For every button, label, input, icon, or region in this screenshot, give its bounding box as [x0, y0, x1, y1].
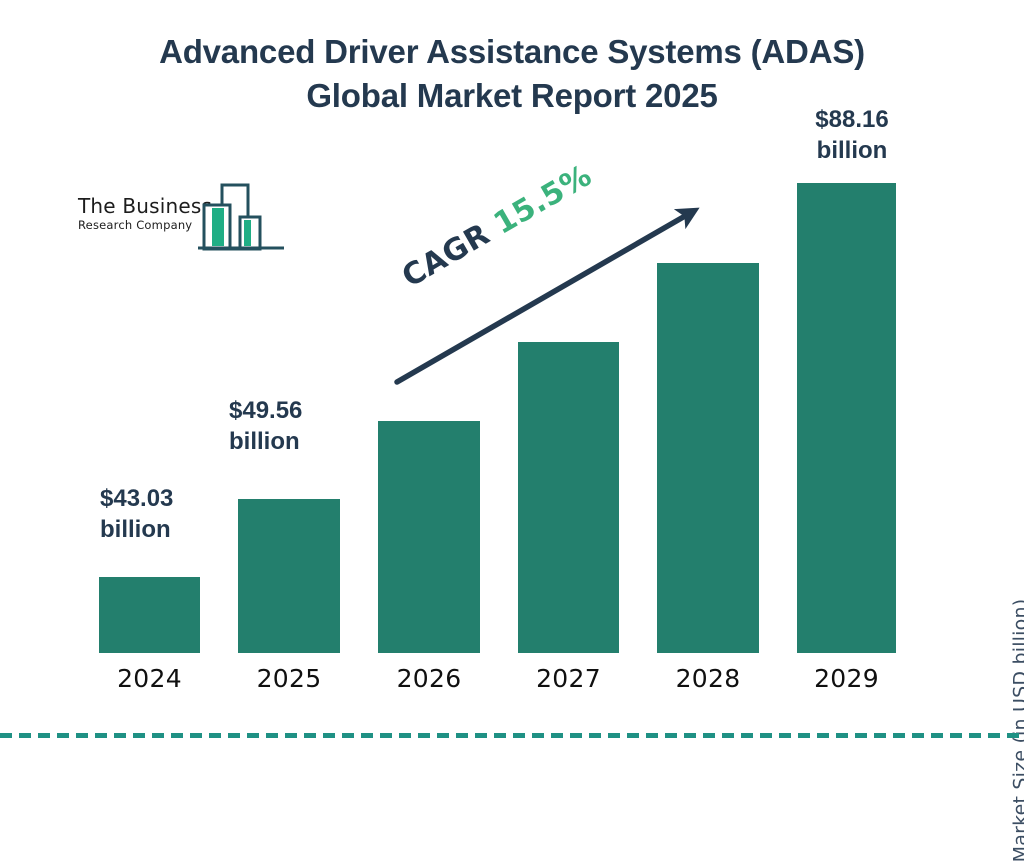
value-label-2025: $49.56 billion [229, 396, 302, 457]
x-tick-2029: 2029 [797, 664, 896, 693]
x-tick-2028: 2028 [657, 664, 759, 693]
up-right-arrow-icon [380, 190, 720, 400]
bar-2024 [99, 577, 200, 653]
x-tick-2027: 2027 [518, 664, 619, 693]
y-axis-title: Market Size (in USD billion) [1010, 599, 1024, 862]
x-tick-2026: 2026 [378, 664, 480, 693]
bar-chart-plot: 2024 2025 2026 2027 2028 2029 $43.03 bil… [0, 0, 1024, 768]
bar-2026 [378, 421, 480, 653]
x-tick-2025: 2025 [238, 664, 340, 693]
footer-divider [0, 733, 1024, 738]
x-tick-2024: 2024 [99, 664, 200, 693]
value-label-2024: $43.03 billion [100, 484, 173, 545]
bar-2029 [797, 183, 896, 653]
bar-2025 [238, 499, 340, 653]
value-label-2029: $88.16 billion [806, 105, 898, 166]
